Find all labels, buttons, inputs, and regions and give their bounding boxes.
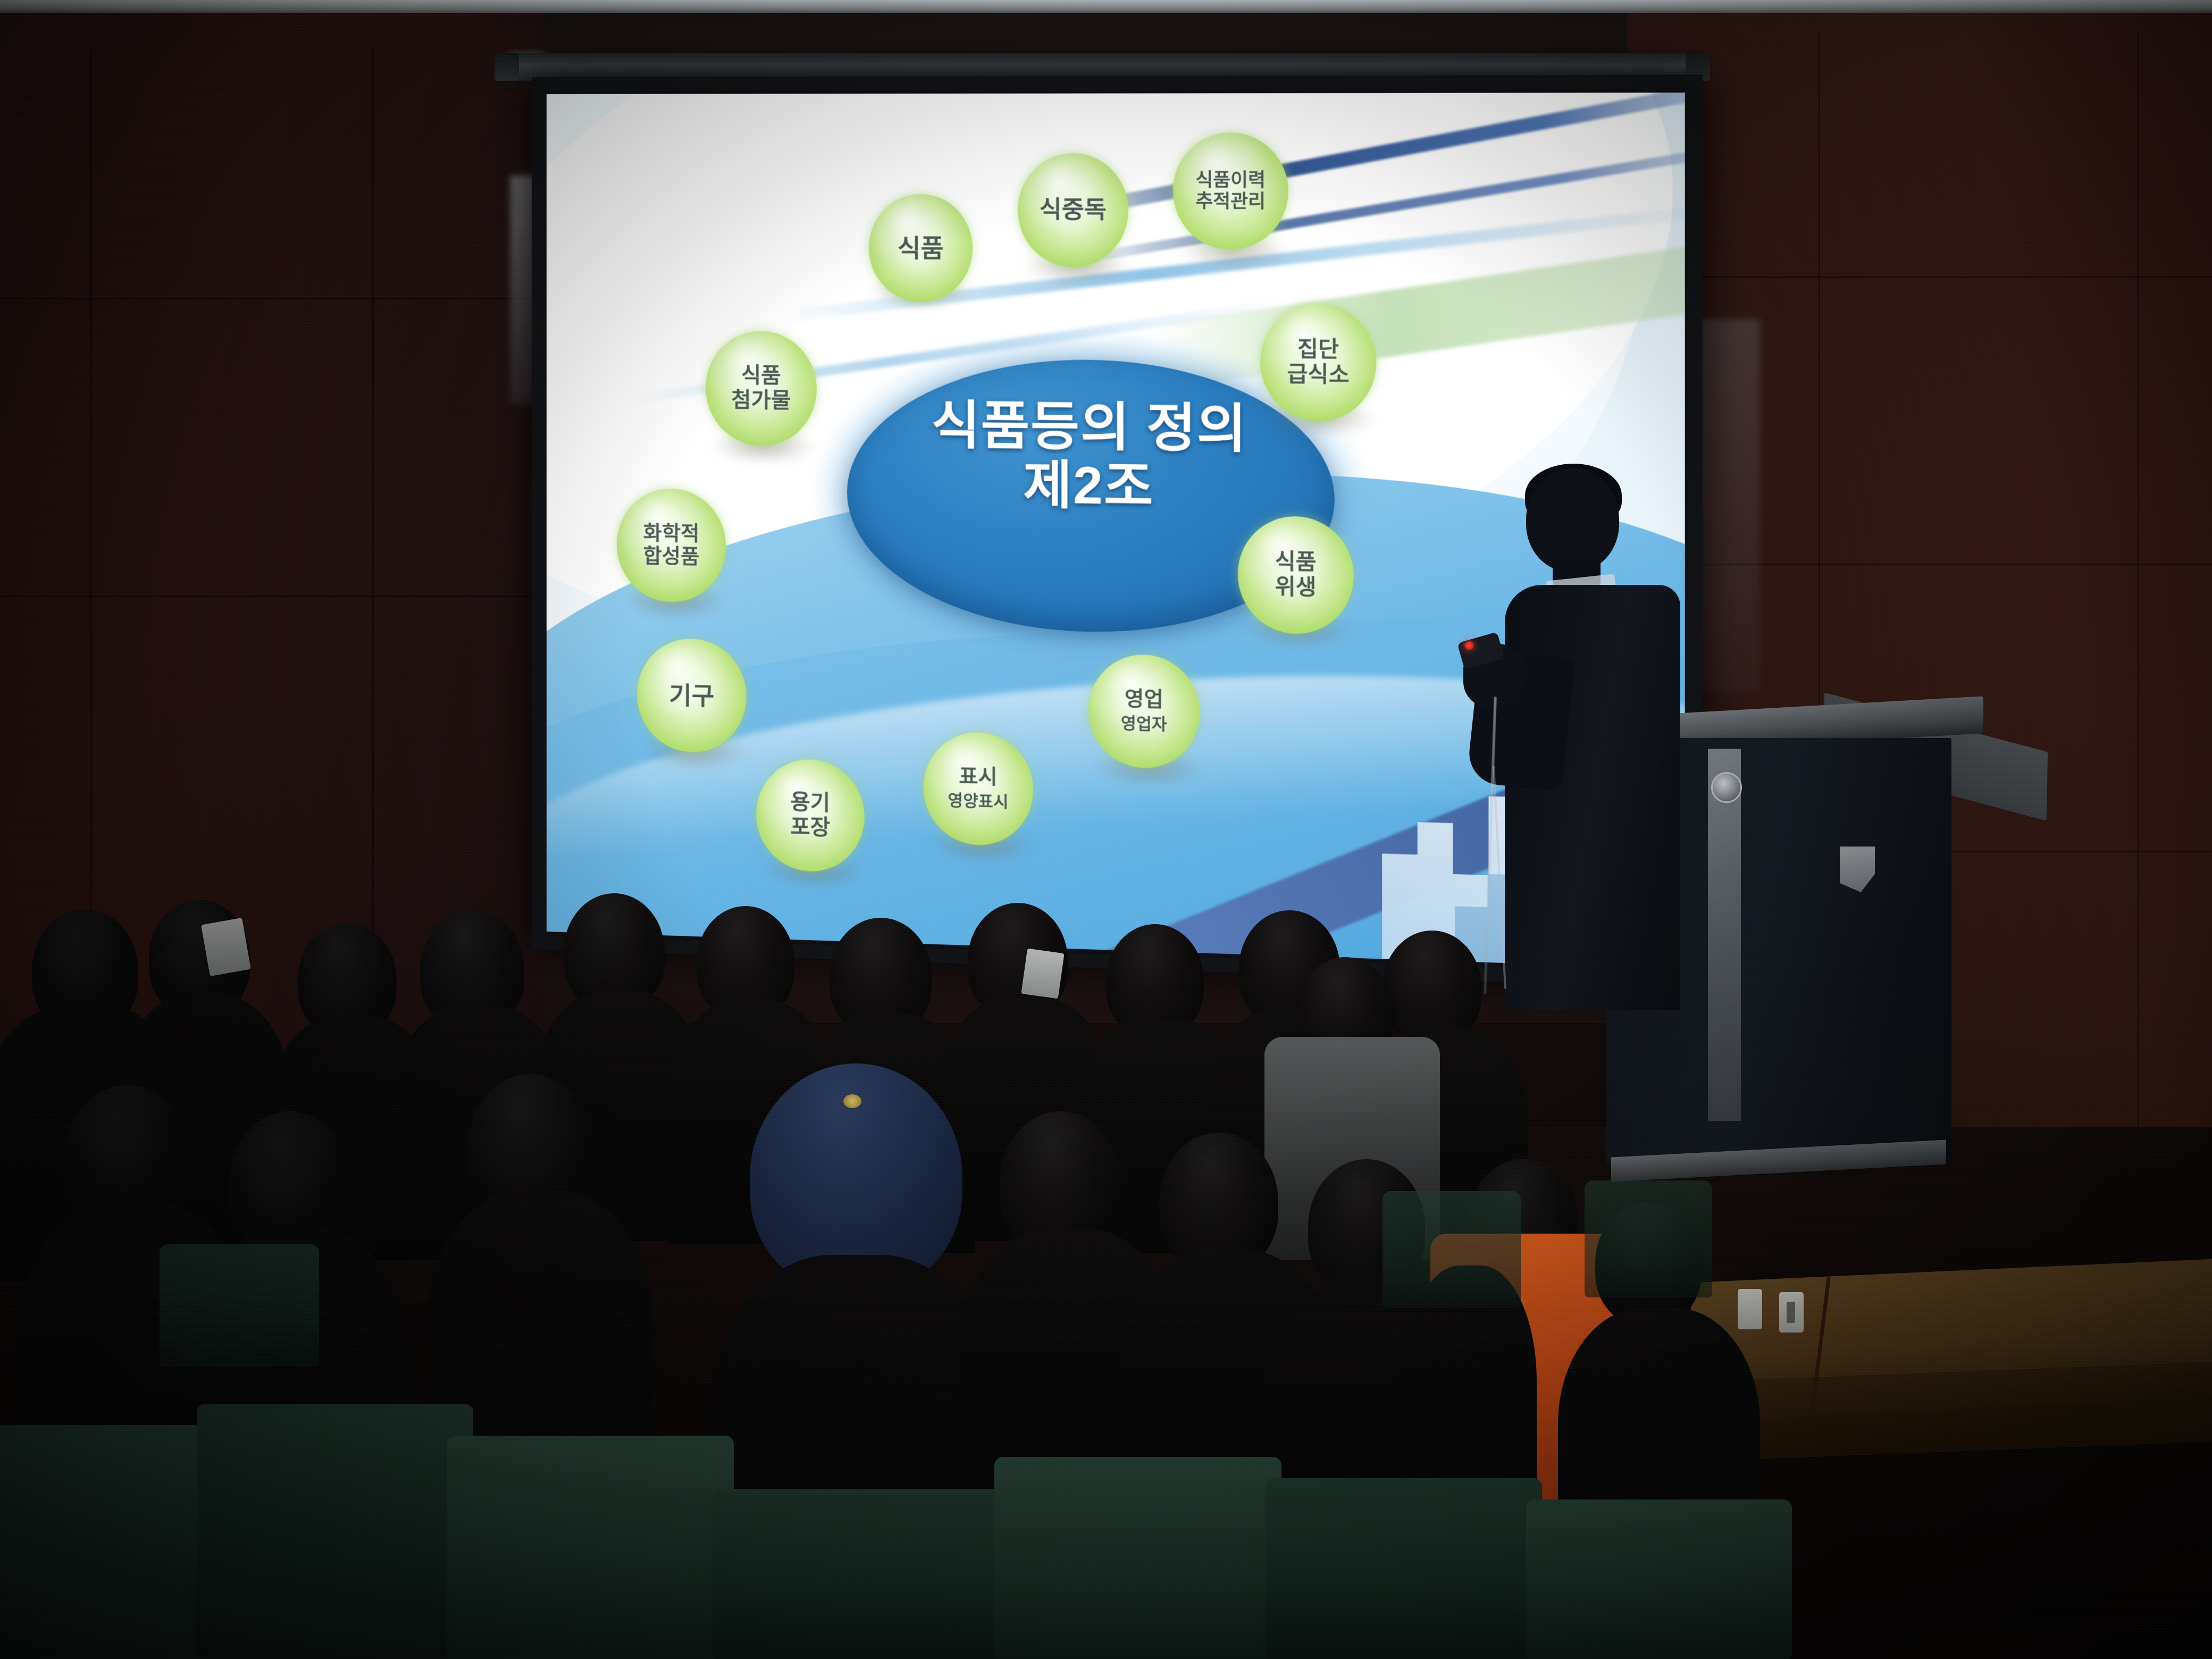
- slide-bubble-traceability: 식품이력 추적관리: [1173, 132, 1288, 250]
- slide-center-title: 식품등의 정의 제2조: [847, 395, 1335, 518]
- bubble-label-line2: 영양표시: [948, 792, 1009, 811]
- bubble-label-line1: 용기: [790, 790, 830, 815]
- presenter-remote-led-icon: [1464, 641, 1474, 650]
- auditorium-seat: [713, 1489, 1010, 1659]
- bubble-label-line1: 영업: [1125, 688, 1163, 711]
- slide-bubble-group-catering: 집단 급식소: [1260, 304, 1377, 422]
- auditorium-seat: [160, 1244, 319, 1367]
- bubble-label-line2: 포장: [790, 815, 830, 840]
- auditorium-seat: [447, 1436, 734, 1659]
- bubble-label-line2: 합성품: [643, 545, 700, 568]
- screen-roller-end-left: [495, 53, 519, 81]
- auditorium-seat: [994, 1457, 1281, 1659]
- slide-bubble-additives: 식품 첨가물: [706, 331, 817, 447]
- bubble-label-line1: 집단: [1297, 337, 1339, 362]
- auditorium-seat: [1382, 1191, 1521, 1308]
- bubble-label-line2: 위생: [1275, 575, 1317, 600]
- slide-title-line2: 제2조: [847, 453, 1335, 518]
- audience: [0, 861, 2212, 1659]
- auditorium-photo: 식품등의 정의 제2조 식품 식중독: [0, 0, 2212, 1659]
- podium-control-knob: [1711, 772, 1742, 803]
- bubble-label-line2: 첨가물: [731, 388, 791, 413]
- audience-name-card: [201, 918, 251, 976]
- bubble-label-line1: 식품이력: [1195, 170, 1266, 190]
- bubble-label-line2: 영업자: [1121, 715, 1167, 734]
- slide-bubble-food-poisoning: 식중독: [1018, 153, 1128, 267]
- slide-bubble-food: 식품: [869, 194, 973, 303]
- bubble-label-line1: 화학적: [643, 522, 700, 545]
- bubble-label-line2: 추적관리: [1195, 191, 1266, 212]
- bubble-label-line1: 식중독: [1040, 197, 1107, 224]
- wall-seam: [1648, 276, 2212, 278]
- auditorium-seat: [1585, 1180, 1712, 1297]
- presenter-head: [1526, 468, 1619, 572]
- bubble-label-line1: 식품: [898, 234, 944, 262]
- audience-name-card: [1021, 949, 1064, 999]
- bubble-label-line1: 기구: [669, 681, 714, 710]
- bubble-label-line1: 식품: [1275, 550, 1317, 575]
- bubble-label-line2: 급식소: [1287, 362, 1350, 387]
- auditorium-seat: [1266, 1478, 1542, 1659]
- wall-seam: [0, 298, 574, 299]
- auditorium-seat: [1526, 1499, 1792, 1659]
- bubble-label-line1: 표시: [959, 765, 998, 789]
- slide-title-line1: 식품등의 정의: [847, 395, 1335, 459]
- bubble-label-line1: 식품: [741, 364, 781, 388]
- wall-seam: [0, 596, 574, 597]
- cap-top-button-icon: [843, 1094, 861, 1108]
- auditorium-seat: [197, 1404, 473, 1659]
